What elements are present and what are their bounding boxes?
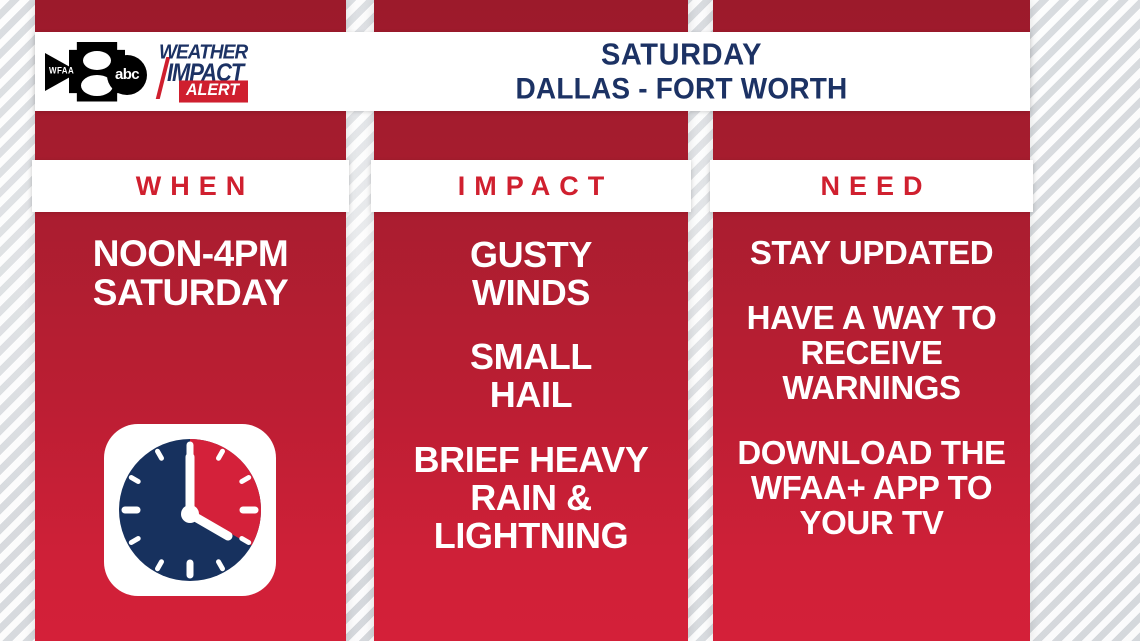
wfaa-wordmark: WFAA — [49, 65, 74, 75]
column-header-when: WHEN — [32, 160, 349, 212]
column-body-need: STAY UPDATED HAVE A WAY TO RECEIVE WARNI… — [713, 236, 1030, 571]
column-body-impact: GUSTY WINDS SMALL HAIL BRIEF HEAVY RAIN … — [374, 236, 688, 555]
stanza-line: WFAA+ APP TO — [713, 471, 1030, 506]
wfaa-channel8-logo-icon: WFAA abc 8 — [45, 42, 149, 102]
stanza: BRIEF HEAVY RAIN & LIGHTNING — [374, 441, 688, 555]
stanza-line: RECEIVE — [713, 336, 1030, 371]
weather-impact-alert-graphic: WFAA abc 8 WEATHER IMPACT ALERT SATURDAY… — [0, 0, 1140, 641]
stanza-line: NOON-4PM — [35, 234, 346, 273]
column-header-need: NEED — [710, 160, 1033, 212]
stanza-line: LIGHTNING — [374, 517, 688, 555]
stanza-line: SATURDAY — [35, 273, 346, 312]
stanza-line: HAIL — [374, 376, 688, 414]
stanza: SMALL HAIL — [374, 338, 688, 414]
stanza-line: WINDS — [374, 274, 688, 312]
column-header-impact: IMPACT — [371, 160, 691, 212]
stanza: NOON-4PM SATURDAY — [35, 234, 346, 312]
eight-upper-counter — [83, 51, 111, 70]
abc-network-logo-icon: abc — [107, 55, 147, 95]
headline-market: DALLAS - FORT WORTH — [353, 74, 1010, 104]
stanza-line: YOUR TV — [713, 506, 1030, 541]
headline-block: SATURDAY DALLAS - FORT WORTH — [353, 41, 1030, 103]
title-banner: WFAA abc 8 WEATHER IMPACT ALERT SATURDAY… — [35, 32, 1030, 111]
channel-number-label: 8 — [45, 42, 46, 43]
stanza-line: GUSTY — [374, 236, 688, 274]
headline-day: SATURDAY — [353, 40, 1010, 71]
stanza: DOWNLOAD THE WFAA+ APP TO YOUR TV — [713, 436, 1030, 541]
weather-impact-alert-lockup: WEATHER IMPACT ALERT — [157, 43, 285, 101]
stanza-line: RAIN & — [374, 479, 688, 517]
stanza-line: SMALL — [374, 338, 688, 376]
stanza-line: WARNINGS — [713, 371, 1030, 406]
stanza: GUSTY WINDS — [374, 236, 688, 312]
stanza-line: BRIEF HEAVY — [374, 441, 688, 479]
clock-icon — [104, 424, 276, 596]
stanza: STAY UPDATED — [713, 236, 1030, 271]
stanza: HAVE A WAY TO RECEIVE WARNINGS — [713, 301, 1030, 406]
stanza-line: STAY UPDATED — [713, 236, 1030, 271]
stanza-line: DOWNLOAD THE — [713, 436, 1030, 471]
alert-line-alert: ALERT — [179, 80, 248, 102]
stanza-line: HAVE A WAY TO — [713, 301, 1030, 336]
brand-lockup: WFAA abc 8 WEATHER IMPACT ALERT — [35, 42, 353, 102]
column-body-when: NOON-4PM SATURDAY — [35, 234, 346, 312]
